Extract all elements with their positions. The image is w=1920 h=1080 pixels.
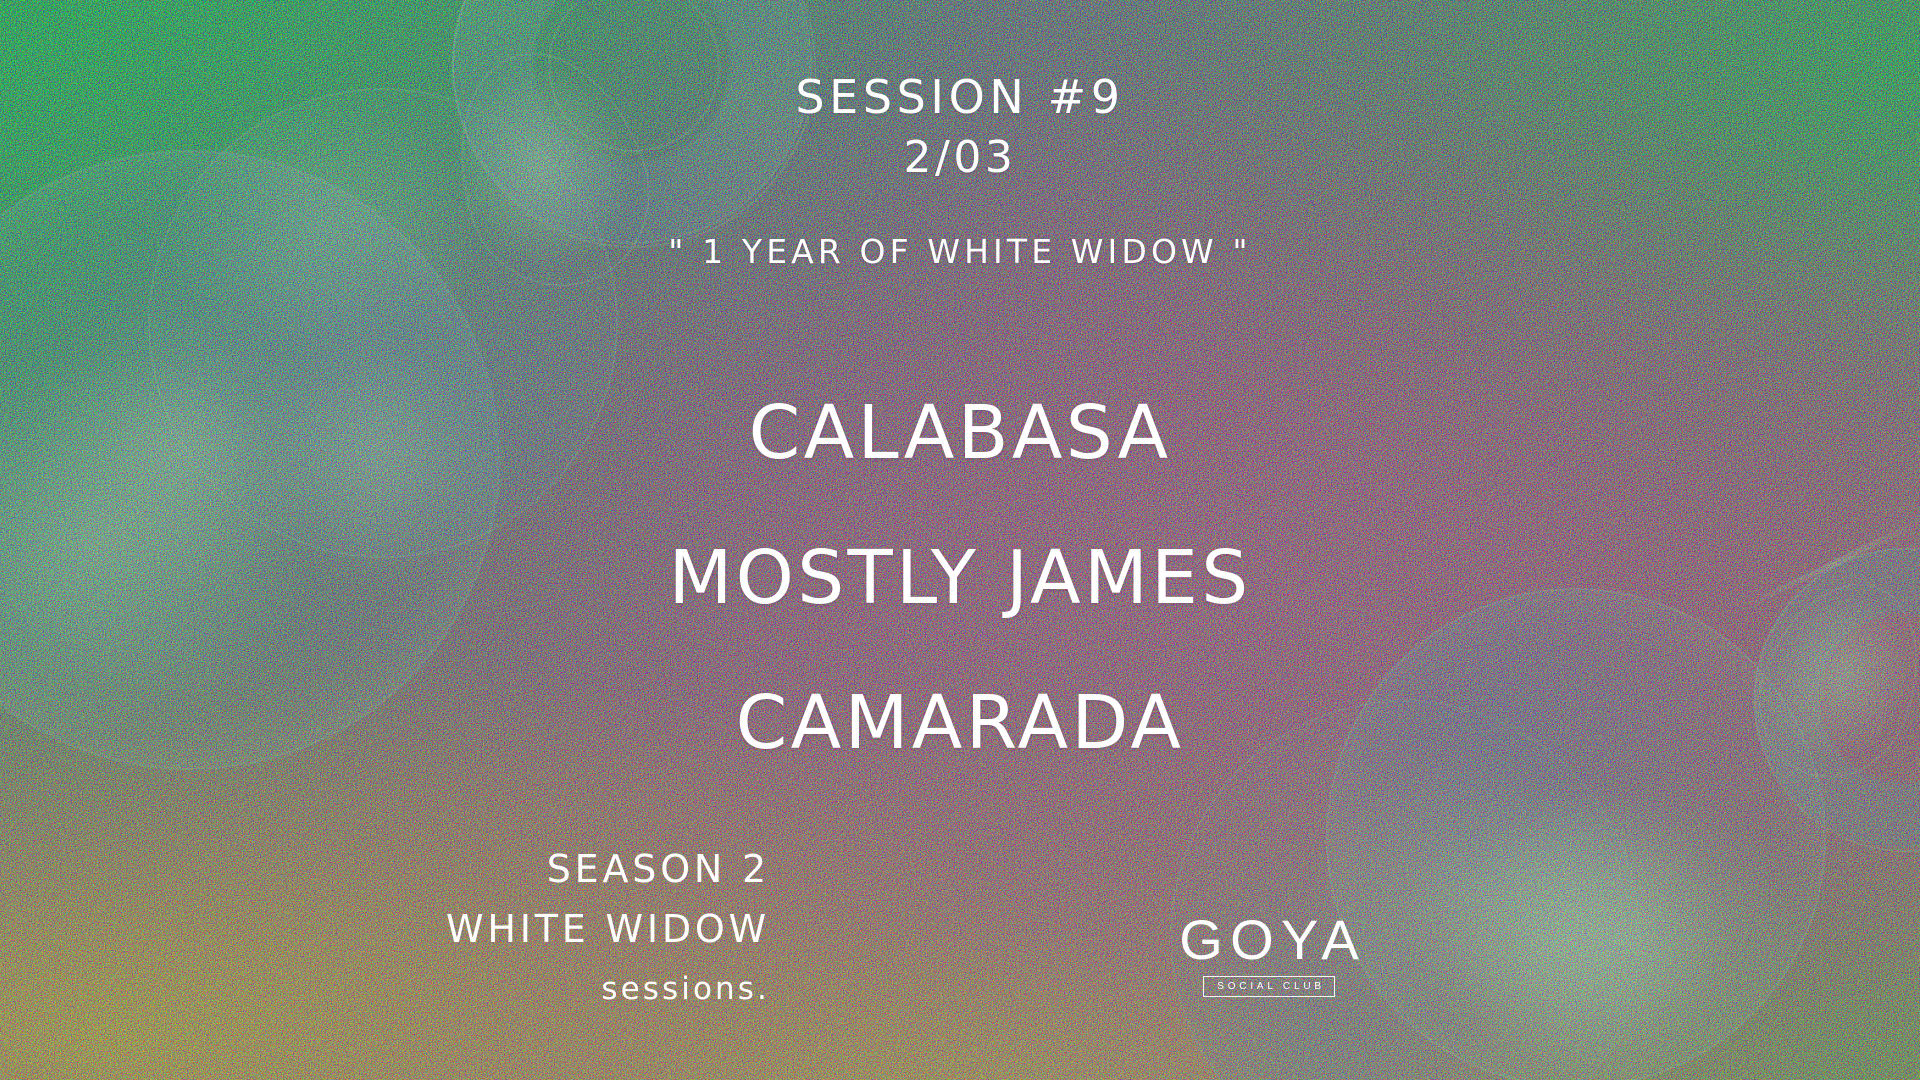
series-block: SEASON 2 WHITE WIDOW sessions. [340, 850, 770, 1005]
event-tagline: " 1 YEAR OF WHITE WIDOW " [0, 232, 1920, 271]
lineup-artist-2: MOSTLY JAMES [0, 535, 1920, 621]
goya-logo-subtitle: SOCIAL CLUB [1203, 976, 1335, 997]
session-number-label: SESSION #9 [0, 70, 1920, 124]
lineup-artist-3: CAMARADA [0, 680, 1920, 766]
event-poster: SESSION #9 2/03 " 1 YEAR OF WHITE WIDOW … [0, 0, 1920, 1080]
series-suffix-label: sessions. [340, 974, 770, 1005]
goya-logo: GOYA SOCIAL CLUB [1172, 912, 1366, 997]
lineup-artist-1: CALABASA [0, 390, 1920, 476]
goya-wordmark: GOYA [1172, 912, 1366, 968]
event-date-label: 2/03 [0, 132, 1920, 183]
season-label: SEASON 2 [340, 850, 770, 888]
series-brand-label: WHITE WIDOW [340, 910, 770, 948]
